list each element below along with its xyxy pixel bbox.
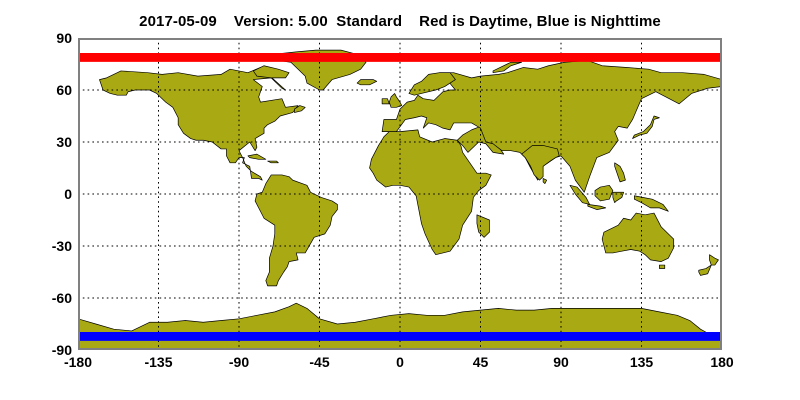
x-axis-ticks: -180-135-90-4504590135180 [0,355,800,379]
x-tick-label: 0 [360,355,440,369]
y-tick-label: 90 [12,31,72,45]
y-tick-label: 60 [12,83,72,97]
y-tick-label: 0 [12,187,72,201]
world-map-ground-track-svg [78,38,722,350]
chart-title: 2017-05-09 Version: 5.00 Standard Red is… [0,13,800,30]
x-tick-label: -135 [119,355,199,369]
y-tick-label: 30 [12,135,72,149]
x-tick-label: 45 [441,355,521,369]
y-axis-ticks: 9060300-30-60-90 [0,0,72,400]
y-tick-label: -60 [12,291,72,305]
map-plot-area [78,38,722,350]
x-tick-label: 180 [682,355,762,369]
figure-canvas: 2017-05-09 Version: 5.00 Standard Red is… [0,0,800,400]
x-tick-label: 90 [521,355,601,369]
x-tick-label: 135 [602,355,682,369]
x-tick-label: -180 [38,355,118,369]
landmass-polygon [659,265,664,268]
x-tick-label: -90 [199,355,279,369]
x-tick-label: -45 [280,355,360,369]
y-tick-label: -30 [12,239,72,253]
